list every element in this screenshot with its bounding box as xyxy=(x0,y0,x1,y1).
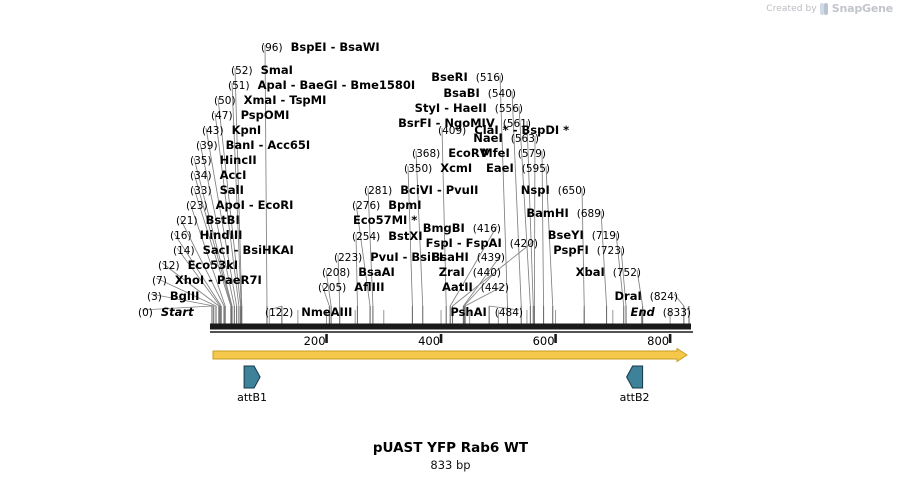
enzyme-label-pspfi[interactable]: PspFI (723) xyxy=(553,244,625,257)
sequence-title: pUAST YFP Rab6 WT xyxy=(0,440,901,456)
enzyme-name: BglII xyxy=(170,289,200,303)
enzyme-position: (579) xyxy=(518,148,546,160)
ruler-tick-label-600: 600 xyxy=(533,334,555,348)
enzyme-label-pspomi[interactable]: (47) PspOMI xyxy=(211,109,289,122)
enzyme-name: BaeGI xyxy=(300,78,338,92)
feature-label-attB2: attB2 xyxy=(595,391,675,404)
enzyme-name: NgoMIV xyxy=(444,116,494,130)
enzyme-label-fspi[interactable]: FspI - FspAI (420) xyxy=(426,237,538,250)
enzyme-label-aatii[interactable]: AatII (442) xyxy=(442,281,509,294)
enzyme-name: BstXI xyxy=(388,229,422,243)
enzyme-label-styi[interactable]: StyI - HaeII (556) xyxy=(415,102,523,115)
enzyme-position: (420) xyxy=(510,238,538,250)
enzyme-label-mfei[interactable]: MfeI (579) xyxy=(481,147,546,160)
enzyme-position: (223) xyxy=(334,252,362,264)
enzyme-name: PspOMI xyxy=(241,108,290,122)
enzyme-name: End xyxy=(630,305,654,319)
enzyme-name: BpmI xyxy=(388,198,421,212)
enzyme-label-saci[interactable]: (14) SacI - BsiHKAI xyxy=(173,244,294,257)
enzyme-position: (540) xyxy=(488,88,516,100)
enzyme-label-apoi[interactable]: (23) ApoI - EcoRI xyxy=(186,199,293,212)
enzyme-label-eaei[interactable]: EaeI (595) xyxy=(486,162,550,175)
enzyme-name: HincII xyxy=(220,153,257,167)
enzyme-position: (350) xyxy=(404,163,432,175)
enzyme-label-eco57mi[interactable]: Eco57MI * xyxy=(353,214,417,226)
enzyme-position: (52) xyxy=(231,65,253,77)
enzyme-name: BsaBI xyxy=(443,86,479,100)
enzyme-name: FspI xyxy=(426,236,453,250)
enzyme-position: (561) xyxy=(503,118,531,130)
enzyme-label-bamhi[interactable]: BamHI (689) xyxy=(526,207,605,220)
snapgene-logo-icon xyxy=(820,3,829,15)
enzyme-label-bsabi[interactable]: BsaBI (540) xyxy=(443,87,516,100)
enzyme-separator: - xyxy=(433,183,446,197)
enzyme-name: PvuII xyxy=(446,183,479,197)
enzyme-label-bsrfi[interactable]: BsrFI - NgoMIV (561) xyxy=(398,117,531,130)
enzyme-label-bspei[interactable]: (96) BspEI - BsaWI xyxy=(261,41,380,54)
enzyme-position: (442) xyxy=(481,282,509,294)
enzyme-name: BamHI xyxy=(526,206,568,220)
enzyme-label-bseri[interactable]: BseRI (516) xyxy=(431,71,504,84)
enzyme-position: (650) xyxy=(558,185,586,197)
enzyme-position: (439) xyxy=(477,252,505,264)
enzyme-position: (50) xyxy=(214,95,236,107)
enzyme-name: BseYI xyxy=(548,228,584,242)
enzyme-name: BspEI xyxy=(291,40,327,54)
snapgene-credit: Created by SnapGene xyxy=(766,2,893,15)
enzyme-name: StyI xyxy=(415,101,441,115)
enzyme-name: Acc65I xyxy=(267,138,310,152)
enzyme-label-xmai[interactable]: (50) XmaI - TspMI xyxy=(214,94,326,107)
enzyme-name: PspFI xyxy=(553,243,588,257)
enzyme-name: BmgBI xyxy=(423,221,465,235)
enzyme-label-zrai[interactable]: ZraI (440) xyxy=(439,266,501,279)
enzyme-position: (595) xyxy=(522,163,550,175)
enzyme-position: (23) xyxy=(186,200,208,212)
enzyme-name: PvuI xyxy=(370,250,398,264)
enzyme-name: Bme1580I xyxy=(350,78,415,92)
ruler-tick-label-200: 200 xyxy=(304,334,326,348)
enzyme-name: Eco53kI xyxy=(188,258,239,272)
enzyme-label-bsahi[interactable]: BsaHI (439) xyxy=(431,251,505,264)
enzyme-label-xhoi[interactable]: (7) XhoI - PaeR7I xyxy=(152,274,262,287)
enzyme-name: BstBI xyxy=(206,213,240,227)
enzyme-position: (43) xyxy=(202,125,224,137)
enzyme-position: (33) xyxy=(190,185,212,197)
enzyme-name: SmaI xyxy=(261,63,293,77)
enzyme-label-bmgbi[interactable]: BmgBI (416) xyxy=(423,222,501,235)
enzyme-name: XcmI xyxy=(440,161,472,175)
enzyme-label-nspi[interactable]: NspI (650) xyxy=(521,184,586,197)
enzyme-name: XbaI xyxy=(576,265,605,279)
enzyme-separator: - xyxy=(327,40,340,54)
enzyme-name: ApaI xyxy=(258,78,287,92)
enzyme-name: PshAI xyxy=(450,305,486,319)
enzyme-separator: - xyxy=(204,273,217,287)
enzyme-name: BsrFI xyxy=(398,116,431,130)
enzyme-name: BciVI xyxy=(400,183,433,197)
enzyme-position: (416) xyxy=(473,223,501,235)
enzyme-name: SalI xyxy=(220,183,244,197)
enzyme-name: BsaAI xyxy=(358,265,395,279)
enzyme-label-afliii[interactable]: (205) AflIII xyxy=(318,281,385,294)
enzyme-position: (122) xyxy=(265,307,293,319)
enzyme-position: (516) xyxy=(476,72,504,84)
enzyme-position: (3) xyxy=(147,291,162,303)
enzyme-position: (276) xyxy=(352,200,380,212)
feature-arrow-attB1[interactable] xyxy=(244,366,260,388)
credit-brand: SnapGene xyxy=(832,2,893,15)
enzyme-position: (563) xyxy=(511,133,539,145)
enzyme-label-drai[interactable]: DraI (824) xyxy=(614,290,678,303)
enzyme-name: BsaHI xyxy=(431,250,468,264)
enzyme-name: NaeI xyxy=(473,131,502,145)
enzyme-label-ecorv[interactable]: (368) EcoRV xyxy=(412,147,489,160)
enzyme-name: BsiHKAI xyxy=(243,243,294,257)
enzyme-label-bstxi[interactable]: (254) BstXI xyxy=(352,230,423,243)
enzyme-label-pshai[interactable]: PshAI (484) xyxy=(450,306,523,319)
enzyme-name: DraI xyxy=(614,289,641,303)
enzyme-position: (7) xyxy=(152,275,167,287)
enzyme-name: XhoI xyxy=(175,273,204,287)
enzyme-label-bpmi[interactable]: (276) BpmI xyxy=(352,199,422,212)
enzyme-name: ZraI xyxy=(439,265,465,279)
enzyme-label-acci[interactable]: (34) AccI xyxy=(190,169,246,182)
ruler-tick-label-400: 400 xyxy=(418,334,440,348)
enzyme-position: (281) xyxy=(364,185,392,197)
enzyme-label-xcmi[interactable]: (350) XcmI xyxy=(404,162,472,175)
enzyme-label-kpni[interactable]: (43) KpnI xyxy=(202,124,261,137)
enzyme-name: BanI xyxy=(226,138,255,152)
enzyme-name: EcoRI xyxy=(258,198,294,212)
enzyme-label-smai[interactable]: (52) SmaI xyxy=(231,64,293,77)
enzyme-name: NspI xyxy=(521,183,550,197)
enzyme-position: (719) xyxy=(592,230,620,242)
enzyme-name: EaeI xyxy=(486,161,514,175)
enzyme-position: (21) xyxy=(176,215,198,227)
enzyme-separator: - xyxy=(453,236,466,250)
enzyme-label-bseyi[interactable]: BseYI (719) xyxy=(548,229,620,242)
enzyme-label-end[interactable]: End (833) xyxy=(630,306,691,319)
enzyme-position: (12) xyxy=(158,260,180,272)
feature-arrow-attB2[interactable] xyxy=(627,366,643,388)
enzyme-separator: - xyxy=(255,138,268,152)
enzyme-separator: - xyxy=(245,198,258,212)
enzyme-name: PaeR7I xyxy=(217,273,262,287)
enzyme-name: KpnI xyxy=(232,123,262,137)
enzyme-label-hindiii[interactable]: (16) HindIII xyxy=(170,229,242,242)
enzyme-separator: - xyxy=(338,78,351,92)
enzyme-separator: - xyxy=(432,116,445,130)
enzyme-label-apai[interactable]: (51) ApaI - BaeGI - Bme1580I xyxy=(228,79,415,92)
enzyme-separator: - xyxy=(230,243,243,257)
enzyme-name: AflIII xyxy=(354,280,384,294)
ruler-tick-label-800: 800 xyxy=(647,334,669,348)
enzyme-name: SacI xyxy=(203,243,230,257)
enzyme-position: (824) xyxy=(650,291,678,303)
enzyme-name: Start xyxy=(161,305,194,319)
enzyme-label-bcivi[interactable]: (281) BciVI - PvuII xyxy=(364,184,478,197)
enzyme-label-bsaai[interactable]: (208) BsaAI xyxy=(322,266,395,279)
enzyme-name: BsaWI xyxy=(339,40,379,54)
enzyme-name: HaeII xyxy=(453,101,487,115)
enzyme-label-pvui[interactable]: (223) PvuI - BsiEI xyxy=(334,251,443,264)
enzyme-position: (51) xyxy=(228,80,250,92)
enzyme-separator: - xyxy=(287,78,300,92)
feature-label-attB1: attB1 xyxy=(212,391,292,404)
enzyme-label-hincii[interactable]: (35) HincII xyxy=(190,154,257,167)
enzyme-position: (689) xyxy=(577,208,605,220)
enzyme-name: AccI xyxy=(220,168,247,182)
enzyme-separator: - xyxy=(440,101,453,115)
enzyme-position: (34) xyxy=(190,170,212,182)
enzyme-name: FspAI xyxy=(466,236,502,250)
enzyme-name: ApoI xyxy=(216,198,245,212)
enzyme-label-start[interactable]: (0) Start xyxy=(138,306,194,319)
enzyme-name: TspMI xyxy=(289,93,326,107)
enzyme-position: (96) xyxy=(261,42,283,54)
enzyme-position: (47) xyxy=(211,110,233,122)
enzyme-label-naei[interactable]: NaeI (563) xyxy=(473,132,539,145)
enzyme-position: (16) xyxy=(170,230,192,242)
sequence-length: 833 bp xyxy=(0,458,901,472)
enzyme-position: (0) xyxy=(138,307,153,319)
enzyme-position: (208) xyxy=(322,267,350,279)
enzyme-position: (254) xyxy=(352,231,380,243)
enzyme-label-bglii[interactable]: (3) BglII xyxy=(147,290,199,303)
enzyme-label-xbai[interactable]: XbaI (752) xyxy=(576,266,641,279)
enzyme-position: (723) xyxy=(597,245,625,257)
enzyme-label-bstbi[interactable]: (21) BstBI xyxy=(176,214,240,227)
enzyme-position: (556) xyxy=(495,103,523,115)
enzyme-position: (205) xyxy=(318,282,346,294)
enzyme-position: (39) xyxy=(196,140,218,152)
enzyme-label-sali[interactable]: (33) SalI xyxy=(190,184,244,197)
enzyme-name: HindIII xyxy=(200,228,243,242)
enzyme-position: (484) xyxy=(495,307,523,319)
enzyme-position: (35) xyxy=(190,155,212,167)
enzyme-position: (14) xyxy=(173,245,195,257)
enzyme-position: (440) xyxy=(473,267,501,279)
enzyme-name: BseRI xyxy=(431,70,468,84)
credit-prefix: Created by xyxy=(766,4,817,14)
snapgene-linear-map: Created by SnapGene (0) Start(3) BglII(7… xyxy=(0,0,901,479)
enzyme-name: Eco57MI * xyxy=(353,213,417,227)
enzyme-position: (833) xyxy=(663,307,691,319)
enzyme-name: MfeI xyxy=(481,146,510,160)
enzyme-position: (752) xyxy=(613,267,641,279)
enzyme-name: AatII xyxy=(442,280,473,294)
enzyme-label-eco53ki[interactable]: (12) Eco53kI xyxy=(158,259,238,272)
enzyme-separator: - xyxy=(276,93,289,107)
enzyme-name: XmaI xyxy=(244,93,277,107)
enzyme-separator: - xyxy=(399,250,412,264)
enzyme-label-nmeaiii[interactable]: (122) NmeAIII xyxy=(265,306,352,319)
enzyme-label-bani[interactable]: (39) BanI - Acc65I xyxy=(196,139,310,152)
enzyme-position: (368) xyxy=(412,148,440,160)
enzyme-name: NmeAIII xyxy=(301,305,352,319)
